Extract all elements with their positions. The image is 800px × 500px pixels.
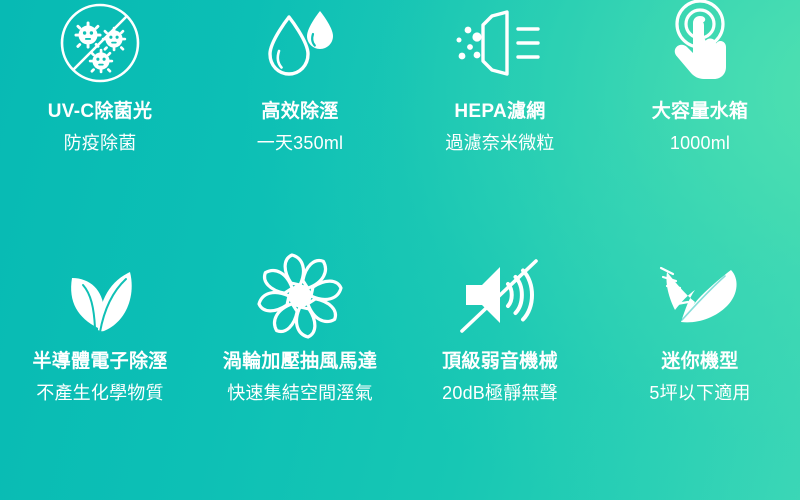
- feature-labels: UV-C除菌光 防疫除菌: [48, 100, 153, 155]
- feature-labels: 渦輪加壓抽風馬達 快速集結空間溼氣: [223, 350, 377, 405]
- hepa-filter-icon: [450, 0, 550, 86]
- turbine-fan-icon: [252, 250, 348, 342]
- feature-card-quiet: 頂級弱音機械 20dB極靜無聲: [400, 250, 600, 500]
- feature-subtitle: 防疫除菌: [48, 132, 153, 155]
- feature-card-uvc: UV-C除菌光 防疫除菌: [0, 0, 200, 250]
- speaker-mute-icon: [452, 250, 548, 342]
- feature-title: 大容量水箱: [652, 100, 749, 124]
- feature-poster: UV-C除菌光 防疫除菌 高效除溼 一天350ml: [0, 0, 800, 500]
- feature-subtitle: 5坪以下適用: [649, 382, 750, 405]
- feature-card-semiconductor: 半導體電子除溼 不產生化學物質: [0, 250, 200, 500]
- feature-labels: 半導體電子除溼 不產生化學物質: [32, 350, 167, 405]
- water-drop-icon: [256, 0, 344, 86]
- feature-labels: 大容量水箱 1000ml: [652, 100, 749, 155]
- touch-tap-icon: [656, 0, 744, 86]
- feature-subtitle: 1000ml: [652, 132, 749, 155]
- feature-title: UV-C除菌光: [48, 100, 153, 124]
- feature-card-mini: 迷你機型 5坪以下適用: [600, 250, 800, 500]
- feature-labels: 頂級弱音機械 20dB極靜無聲: [442, 350, 558, 405]
- feature-subtitle: 一天350ml: [257, 132, 343, 155]
- feature-title: 頂級弱音機械: [442, 350, 558, 374]
- feature-card-dehumidify: 高效除溼 一天350ml: [200, 0, 400, 250]
- feature-subtitle: 快速集結空間溼氣: [223, 382, 377, 405]
- feature-labels: 高效除溼 一天350ml: [257, 100, 343, 155]
- feature-subtitle: 20dB極靜無聲: [442, 382, 558, 405]
- feature-card-turbine: 渦輪加壓抽風馬達 快速集結空間溼氣: [200, 250, 400, 500]
- feature-grid: UV-C除菌光 防疫除菌 高效除溼 一天350ml: [0, 0, 800, 500]
- feature-subtitle: 不產生化學物質: [32, 382, 167, 405]
- feature-labels: 迷你機型 5坪以下適用: [649, 350, 750, 405]
- feature-title: HEPA濾網: [445, 100, 554, 124]
- feature-title: 半導體電子除溼: [32, 350, 167, 374]
- feature-title: 迷你機型: [649, 350, 750, 374]
- feature-title: 渦輪加壓抽風馬達: [223, 350, 377, 374]
- feature-labels: HEPA濾網 過濾奈米微粒: [445, 100, 554, 155]
- feature-title: 高效除溼: [257, 100, 343, 124]
- no-virus-icon: [56, 0, 144, 86]
- feather-icon: [651, 250, 749, 342]
- leaves-icon: [54, 250, 146, 342]
- feature-subtitle: 過濾奈米微粒: [445, 132, 554, 155]
- feature-card-hepa: HEPA濾網 過濾奈米微粒: [400, 0, 600, 250]
- feature-card-tank: 大容量水箱 1000ml: [600, 0, 800, 250]
